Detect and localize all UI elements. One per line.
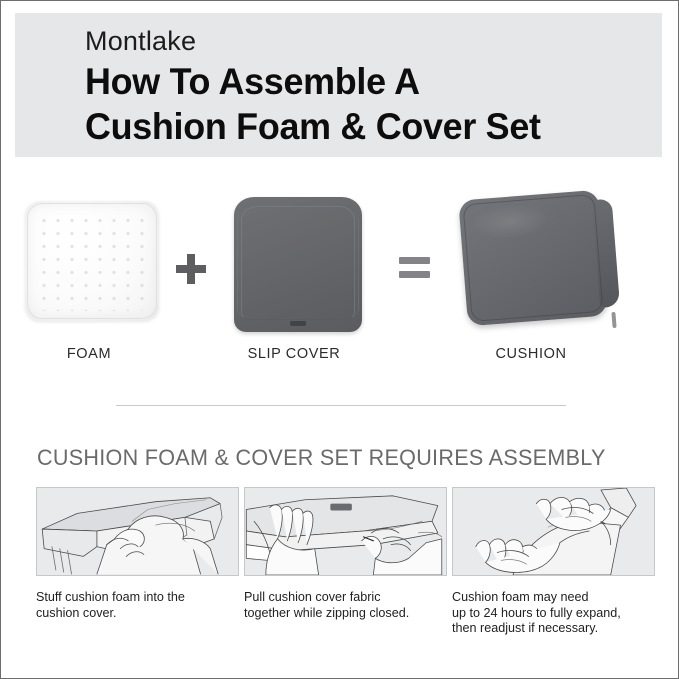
section-divider (116, 405, 566, 406)
brand-name: Montlake (85, 26, 196, 57)
section-heading: CUSHION FOAM & COVER SET REQUIRES ASSEMB… (37, 445, 606, 471)
product-label-cushion: CUSHION (421, 346, 641, 362)
page-title-line-1: How To Assemble A (85, 61, 420, 103)
step-3-caption: Cushion foam may need up to 24 hours to … (452, 590, 655, 637)
foam-expanding-readjust-illustration (452, 487, 655, 576)
slip-cover-icon (234, 197, 362, 332)
product-label-foam: FOAM (0, 346, 199, 362)
finished-cushion-icon (458, 190, 607, 327)
assembly-equation: FOAM SLIP COVER (1, 171, 679, 371)
assembly-step-2: Pull cushion cover fabric together while… (244, 487, 447, 621)
assembly-steps: Stuff cushion foam into the cushion cove… (1, 487, 679, 667)
zipping-cover-closed-illustration (244, 487, 447, 576)
product-label-slip-cover: SLIP COVER (184, 346, 404, 362)
stuffing-foam-into-cover-illustration (36, 487, 239, 576)
cover-right-edge (350, 213, 359, 317)
cover-seam (241, 206, 355, 320)
slip-cover-product (226, 189, 371, 339)
assembly-step-3: Cushion foam may need up to 24 hours to … (452, 487, 655, 637)
step-2-caption: Pull cushion cover fabric together while… (244, 590, 447, 621)
assembly-step-1: Stuff cushion foam into the cushion cove… (36, 487, 239, 621)
foam-pillow-icon (25, 201, 159, 321)
cover-left-edge (237, 213, 246, 317)
header-band: Montlake How To Assemble A Cushion Foam … (15, 13, 662, 157)
step-1-caption: Stuff cushion foam into the cushion cove… (36, 590, 239, 621)
foam-product (21, 195, 166, 330)
infographic-page: Montlake How To Assemble A Cushion Foam … (0, 0, 679, 679)
plus-icon (176, 254, 206, 284)
equals-icon (399, 257, 430, 279)
page-title-line-2: Cushion Foam & Cover Set (85, 106, 541, 148)
cover-zipper-pull-icon (290, 321, 306, 326)
cushion-zipper (611, 312, 616, 328)
foam-texture-grid (35, 211, 149, 311)
cushion-product (449, 179, 624, 344)
